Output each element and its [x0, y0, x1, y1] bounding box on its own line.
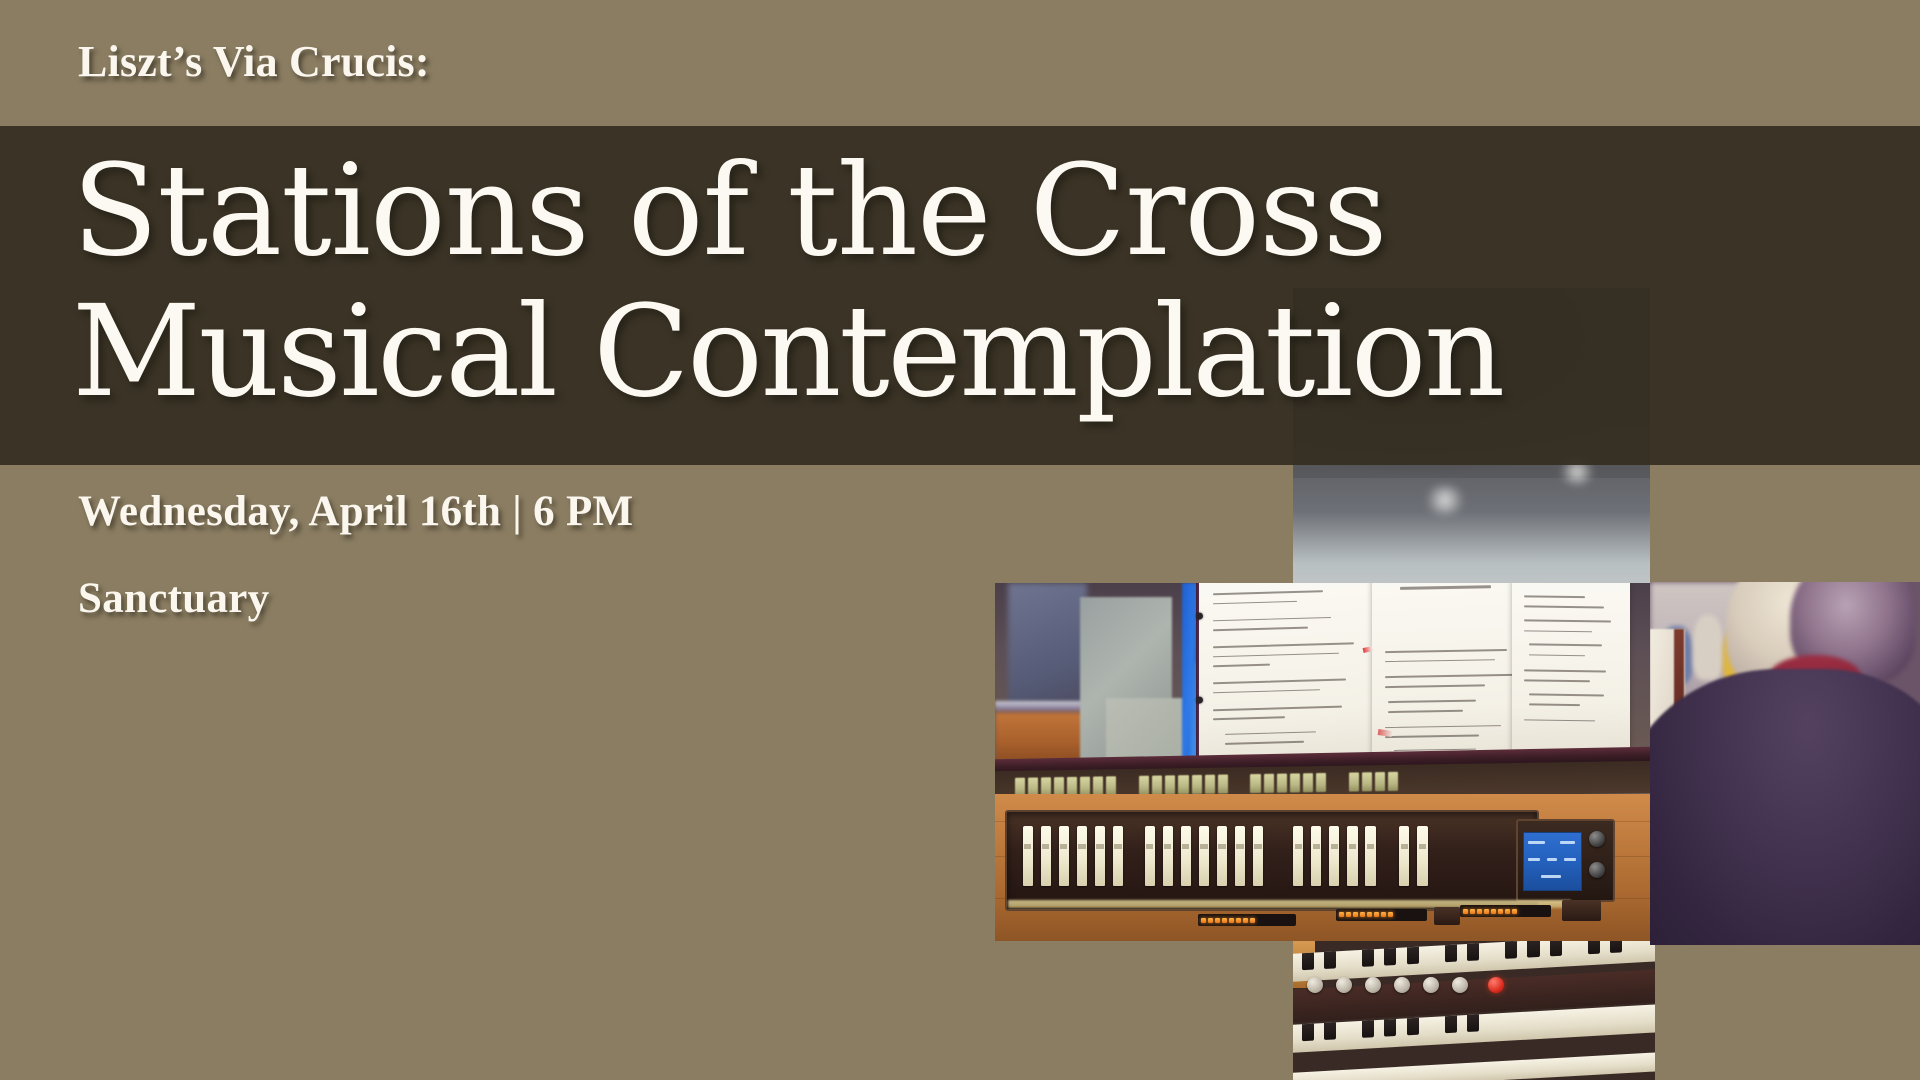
console-light-rail — [1008, 900, 1571, 908]
blue-binder-spine — [1190, 662, 1204, 769]
grey-folder — [1080, 597, 1172, 762]
thumb-piston[interactable] — [1452, 977, 1468, 993]
thumb-piston[interactable] — [1423, 977, 1439, 993]
congregation-blur — [1650, 582, 1817, 727]
lcd-screen — [1523, 832, 1582, 891]
balcony-rail — [1650, 720, 1817, 745]
binder-edge — [1196, 583, 1199, 768]
organist-hair — [1790, 582, 1914, 684]
wall-glow — [1357, 590, 1421, 608]
lcd-knob[interactable] — [1589, 862, 1605, 878]
headline-line-2: Musical Contemplation — [72, 281, 1772, 422]
eyebrow-text: Liszt’s Via Crucis: — [78, 36, 430, 87]
thumb-piston[interactable] — [1434, 907, 1460, 925]
blue-binder-spine — [1182, 583, 1203, 769]
lcd-knob[interactable] — [1589, 831, 1605, 847]
score-spine — [1674, 629, 1683, 803]
upper-stop-row — [995, 760, 1650, 803]
page-title: Stations of the Cross Musical Contemplat… — [72, 140, 1772, 422]
organ-backdrop — [995, 583, 1650, 755]
organ-manual-upper[interactable] — [1293, 941, 1655, 982]
organ-manual-lower[interactable] — [1293, 1004, 1655, 1053]
score-page — [1512, 583, 1630, 752]
organ-cabinet — [995, 794, 1650, 941]
event-location: Sanctuary — [78, 574, 633, 623]
organist-jacket — [1650, 669, 1920, 945]
pew-wood — [995, 712, 1106, 762]
thumb-piston[interactable] — [1394, 977, 1410, 993]
event-details: Wednesday, April 16th | 6 PM Sanctuary — [78, 487, 633, 623]
thumb-piston-red[interactable] — [1488, 977, 1504, 993]
organ-lcd-display[interactable] — [1516, 819, 1615, 902]
cabinet-post — [1293, 941, 1315, 988]
grey-folder — [1106, 698, 1198, 777]
headline-line-1: Stations of the Cross — [72, 140, 1772, 281]
thumb-piston[interactable] — [1307, 977, 1323, 993]
score-page-psalm — [1372, 583, 1529, 763]
poster-canvas: Liszt’s Via Crucis: Stations of the Cros… — [0, 0, 1920, 1080]
binder-ring-icon — [1196, 612, 1203, 619]
thumb-piston[interactable] — [1365, 977, 1381, 993]
organist-head — [1726, 582, 1893, 705]
organist-scene — [1650, 582, 1920, 945]
page-marker — [1363, 646, 1374, 653]
stop-tab-panel — [1005, 810, 1540, 911]
organist-panel — [1650, 582, 1920, 945]
pew-stripe — [995, 701, 1106, 715]
organ-scene — [995, 583, 1650, 941]
thumb-piston[interactable] — [1562, 900, 1601, 921]
organ-manual-bottom[interactable] — [1293, 1053, 1655, 1080]
keyboards-panel — [1293, 941, 1655, 1080]
binder-ring-icon — [1196, 696, 1203, 703]
blurred-person — [1008, 583, 1087, 726]
ceiling-light-icon — [1422, 485, 1468, 515]
organist-collar — [1769, 655, 1861, 699]
score-page-edge — [1650, 629, 1685, 796]
keyboards-scene — [1293, 941, 1655, 1080]
music-desk-rail — [995, 747, 1650, 775]
piston-indicator-strip — [1198, 914, 1296, 926]
piston-indicator-strip — [1336, 909, 1427, 921]
piston-indicator-strip — [1460, 905, 1551, 917]
organ-console-panel — [995, 583, 1650, 941]
page-marker — [1378, 729, 1393, 737]
score-page — [1198, 583, 1388, 768]
piston-rail — [1293, 969, 1655, 1023]
event-datetime: Wednesday, April 16th | 6 PM — [78, 487, 633, 536]
thumb-piston[interactable] — [1336, 977, 1352, 993]
